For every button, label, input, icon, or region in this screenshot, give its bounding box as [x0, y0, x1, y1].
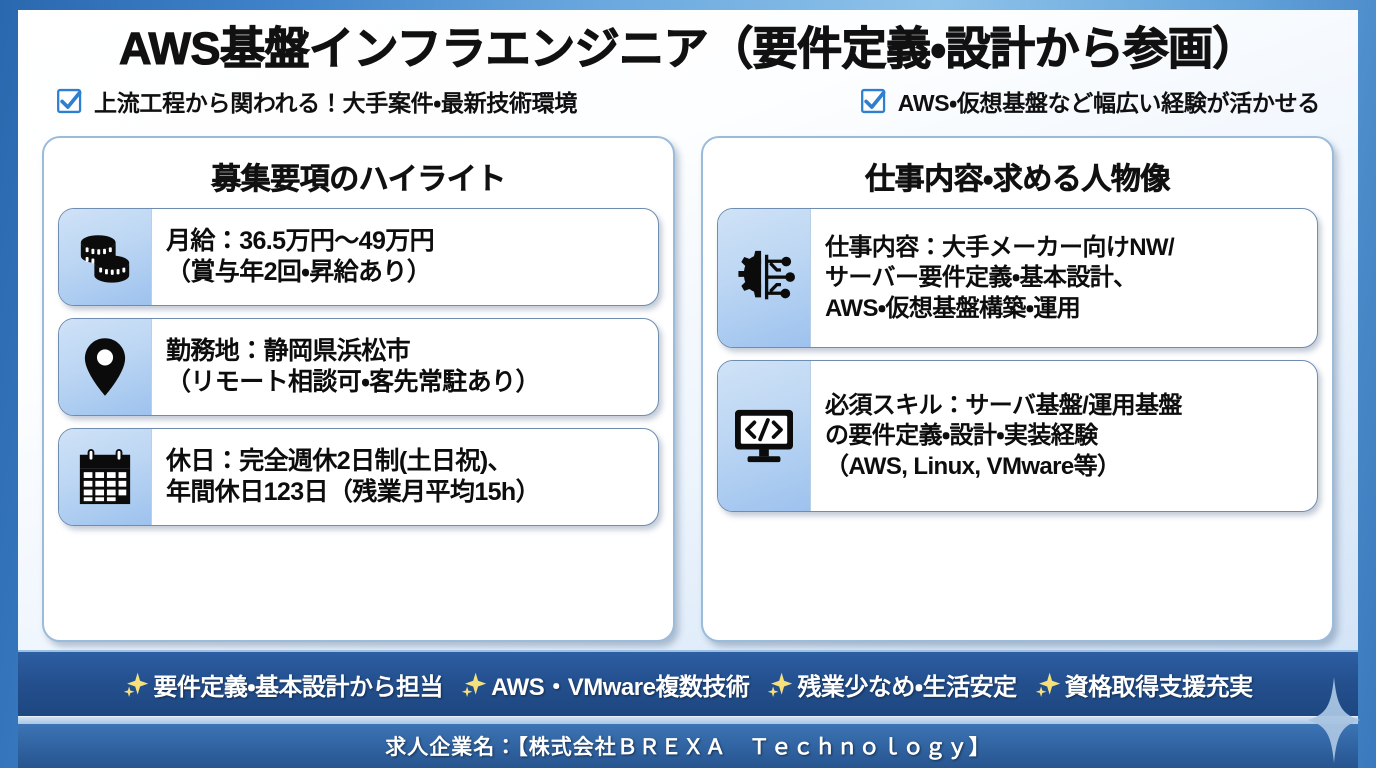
row-line: の要件定義・設計・実装経験: [825, 421, 1307, 451]
row-line: 仕事内容：大手メーカー向けNW/: [825, 233, 1307, 263]
row-line: （AWS, Linux, VMware等）: [825, 452, 1307, 482]
row-icon-tile: [59, 319, 152, 415]
right-panel-title: 仕事内容・求める人物像: [717, 148, 1318, 208]
row-text: 必須スキル：サーバ基盤/運用基盤 の要件定義・設計・実装経験 （AWS, Lin…: [811, 361, 1317, 511]
band-item-label: 資格取得支援充実: [1065, 667, 1253, 702]
list-item: 休日：完全週休2日制(土日祝)、 年間休日123日（残業月平均15h）: [58, 428, 659, 526]
checkbox-icon: [56, 87, 84, 115]
row-text: 月給：36.5万円〜49万円 （賞与年2回・昇給あり）: [152, 209, 658, 305]
band-divider: [18, 716, 1358, 724]
row-line: サーバー要件定義・基本設計、: [825, 263, 1307, 293]
sparkle-icon: [1035, 671, 1061, 697]
sparkle-icon: [123, 671, 149, 697]
band-item-label: AWS・VMware複数技術: [491, 667, 749, 702]
header: AWS基盤インフラエンジニア（要件定義・設計から参画） 上流工程から関われる！大…: [18, 10, 1358, 122]
header-bullet-2-label: AWS・仮想基盤など幅広い経験が活かせる: [898, 84, 1320, 118]
header-bullets: 上流工程から関われる！大手案件・最新技術環境 AWS・仮想基盤など幅広い経験が活…: [30, 74, 1346, 118]
sparkle-icon: [767, 671, 793, 697]
row-text: 休日：完全週休2日制(土日祝)、 年間休日123日（残業月平均15h）: [152, 429, 658, 525]
row-text: 仕事内容：大手メーカー向けNW/ サーバー要件定義・基本設計、 AWS・仮想基盤…: [811, 209, 1317, 347]
header-bullet-1-label: 上流工程から関われる！大手案件・最新技術環境: [94, 84, 577, 118]
calendar-icon: [76, 447, 134, 507]
band-item: 資格取得支援充実: [1035, 667, 1253, 702]
list-item: 必須スキル：サーバ基盤/運用基盤 の要件定義・設計・実装経験 （AWS, Lin…: [717, 360, 1318, 512]
gear-circuit-icon: [732, 247, 796, 309]
row-icon-tile: [718, 361, 811, 511]
row-line: 必須スキル：サーバ基盤/運用基盤: [825, 391, 1307, 421]
left-panel: 募集要項のハイライト: [42, 136, 675, 642]
list-item: 勤務地：静岡県浜松市 （リモート相談可・客先常駐あり）: [58, 318, 659, 416]
right-panel-rows: 仕事内容：大手メーカー向けNW/ サーバー要件定義・基本設計、 AWS・仮想基盤…: [717, 208, 1318, 628]
right-panel: 仕事内容・求める人物像: [701, 136, 1334, 642]
company-footer: 求人企業名：【株式会社ＢＲＥＸＡ Ｔｅｃｈｎｏｌｏｇｙ】: [18, 724, 1358, 768]
company-name: 求人企業名：【株式会社ＢＲＥＸＡ Ｔｅｃｈｎｏｌｏｇｙ】: [385, 731, 991, 761]
row-line: AWS・仮想基盤構築・運用: [825, 294, 1307, 324]
band-item: 要件定義・基本設計から担当: [123, 667, 443, 702]
row-icon-tile: [59, 429, 152, 525]
list-item: 仕事内容：大手メーカー向けNW/ サーバー要件定義・基本設計、 AWS・仮想基盤…: [717, 208, 1318, 348]
location-pin-icon: [82, 336, 128, 398]
row-icon-tile: [718, 209, 811, 347]
row-line: 年間休日123日（残業月平均15h）: [166, 477, 648, 509]
header-bullet-2: AWS・仮想基盤など幅広い経験が活かせる: [860, 84, 1320, 118]
page-title: AWS基盤インフラエンジニア（要件定義・設計から参画）: [30, 24, 1346, 74]
band-item-label: 残業少なめ・生活安定: [797, 667, 1016, 702]
sparkle-icon: [461, 671, 487, 697]
monitor-code-icon: [732, 407, 796, 465]
checkbox-icon: [860, 87, 888, 115]
header-bullet-1: 上流工程から関われる！大手案件・最新技術環境: [56, 84, 577, 118]
band-item: 残業少なめ・生活安定: [767, 667, 1016, 702]
poster-root: AWS基盤インフラエンジニア（要件定義・設計から参画） 上流工程から関われる！大…: [0, 0, 1376, 768]
list-item: 月給：36.5万円〜49万円 （賞与年2回・昇給あり）: [58, 208, 659, 306]
row-line: 月給：36.5万円〜49万円: [166, 226, 648, 258]
row-line: 休日：完全週休2日制(土日祝)、: [166, 446, 648, 478]
row-line: （賞与年2回・昇給あり）: [166, 257, 648, 289]
highlights-band: 要件定義・基本設計から担当 AWS・VMware複数技術 残業少なめ・生活安定: [18, 650, 1358, 716]
content-panels: 募集要項のハイライト: [18, 122, 1358, 650]
row-line: （リモート相談可・客先常駐あり）: [166, 367, 648, 399]
band-item: AWS・VMware複数技術: [461, 667, 749, 702]
row-text: 勤務地：静岡県浜松市 （リモート相談可・客先常駐あり）: [152, 319, 658, 415]
coins-icon: [74, 228, 136, 286]
band-item-label: 要件定義・基本設計から担当: [153, 667, 443, 702]
row-icon-tile: [59, 209, 152, 305]
row-line: 勤務地：静岡県浜松市: [166, 336, 648, 368]
left-panel-title: 募集要項のハイライト: [58, 148, 659, 208]
poster-stage: AWS基盤インフラエンジニア（要件定義・設計から参画） 上流工程から関われる！大…: [18, 10, 1358, 768]
left-panel-rows: 月給：36.5万円〜49万円 （賞与年2回・昇給あり） 勤務地：静: [58, 208, 659, 628]
